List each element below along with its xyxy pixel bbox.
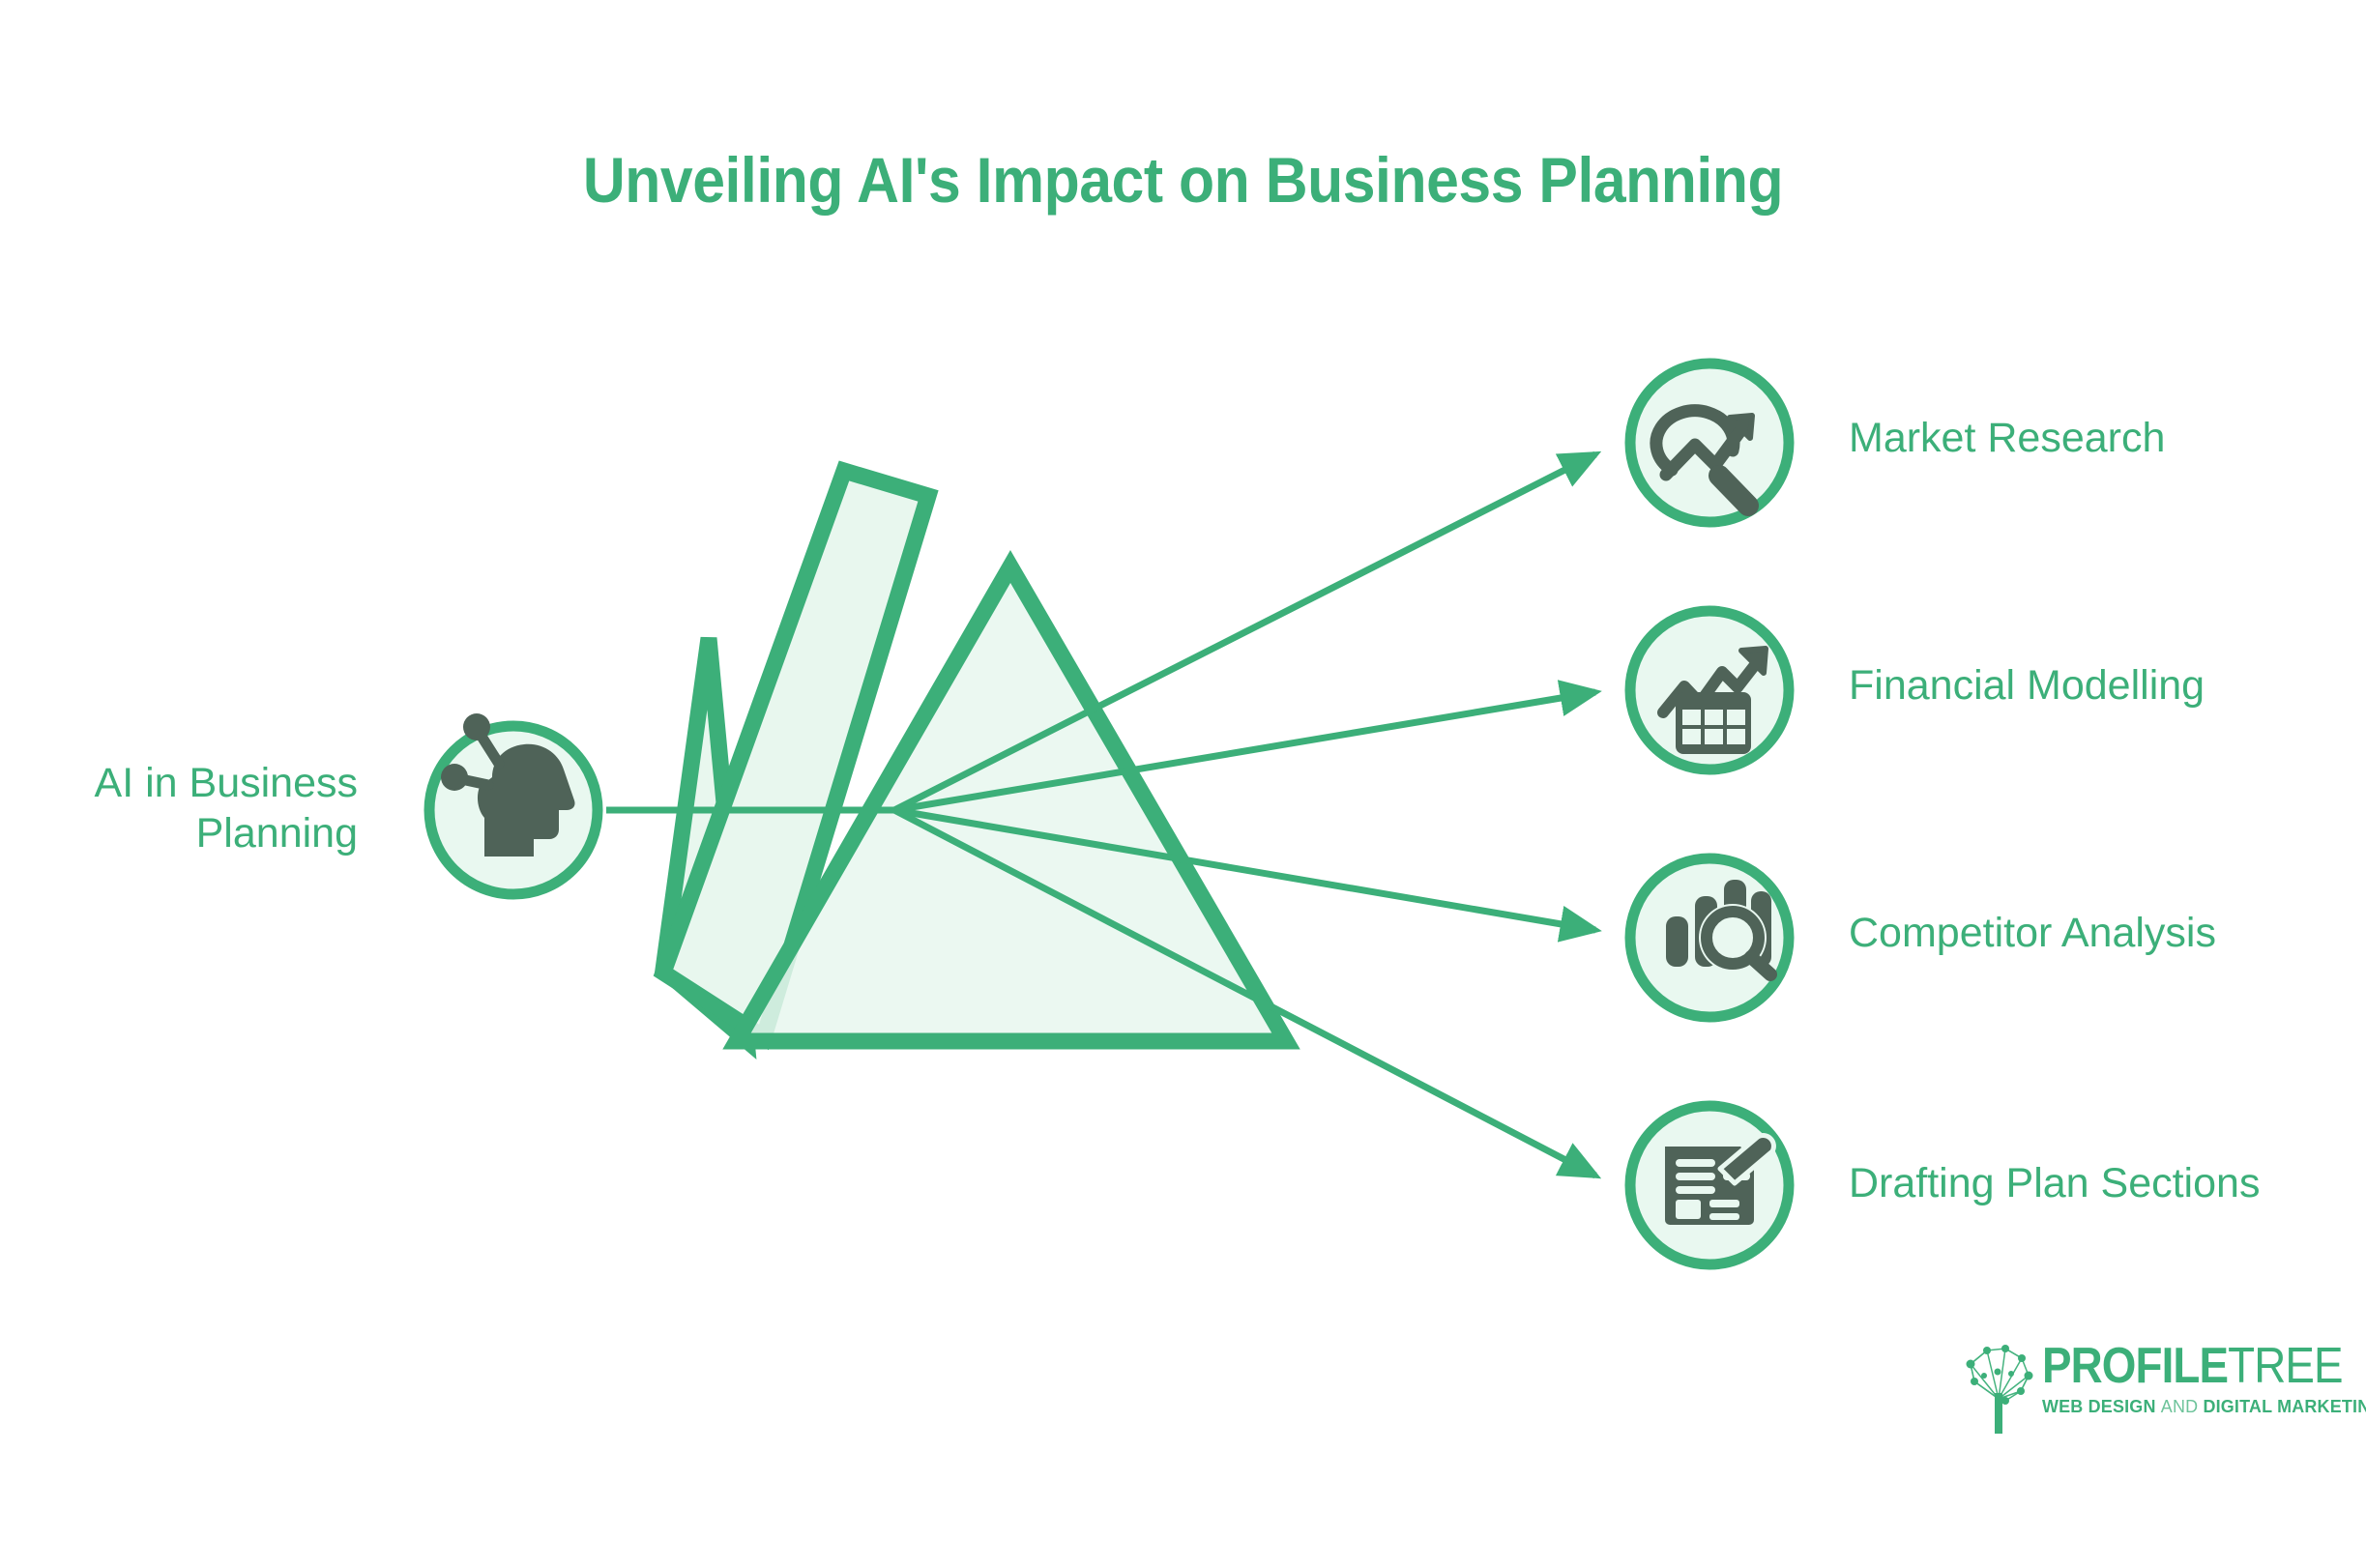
logo-wordmark: PROFILETREE [2042, 1341, 2352, 1391]
branch-label-drafting-plan-sections: Drafting Plan Sections [1849, 1158, 2366, 1208]
decoration-triangles [663, 471, 1286, 1041]
logo-wordmark-bold: PROFILE [2042, 1338, 2228, 1394]
branch-label-market-research: Market Research [1849, 413, 2366, 463]
logo-tagline: WEB DESIGN AND DIGITAL MARKETING [2042, 1398, 2366, 1416]
branch-node-market-research[interactable] [1630, 363, 1789, 522]
infographic-canvas: Unveiling AI's Impact on Business Planni… [0, 0, 2366, 1568]
source-node-label: AI in Business Planning [29, 758, 358, 859]
tree-network-icon [1961, 1343, 2036, 1436]
branch-node-competitor-analysis[interactable] [1630, 858, 1789, 1017]
branch-node-drafting-plan-sections[interactable] [1630, 1106, 1789, 1264]
logo-tagline-part1: WEB DESIGN [2042, 1396, 2156, 1416]
logo-tagline-part3: DIGITAL MARKETING [2203, 1396, 2366, 1416]
source-node-circle[interactable] [429, 713, 598, 894]
branch-label-financial-modelling: Financial Modelling [1849, 660, 2366, 711]
profiletree-logo[interactable]: PROFILETREE WEB DESIGN AND DIGITAL MARKE… [1961, 1341, 2309, 1441]
branch-label-competitor-analysis: Competitor Analysis [1849, 908, 2366, 958]
branch-node-financial-modelling[interactable] [1630, 611, 1789, 769]
logo-tagline-part2: AND [2161, 1396, 2198, 1416]
logo-wordmark-light: TREE [2228, 1338, 2343, 1394]
